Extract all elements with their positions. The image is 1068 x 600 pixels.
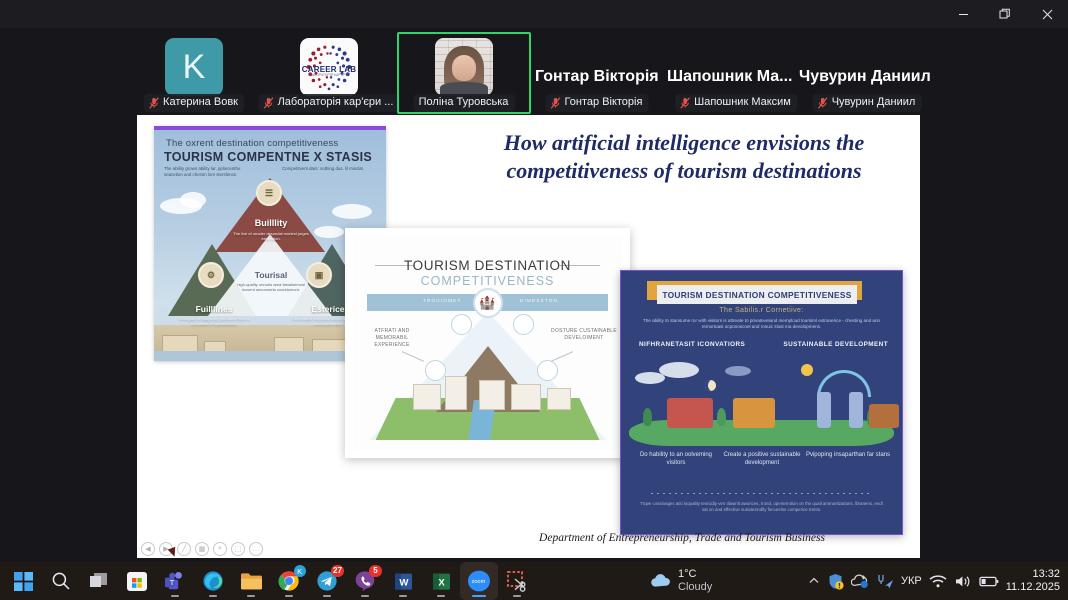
windows-security-icon[interactable] bbox=[827, 573, 844, 590]
previous-slide-button[interactable]: ◀ bbox=[141, 542, 155, 556]
cloud-icon bbox=[180, 192, 206, 208]
microphone-muted-icon bbox=[818, 97, 828, 109]
infographic-b-label-left: ATFRATI AND MEMORABIL EXPERIENCE bbox=[359, 328, 425, 349]
clock[interactable]: 13:32 11.12.2025 bbox=[1006, 568, 1064, 594]
clock-date: 11.12.2025 bbox=[1006, 581, 1060, 594]
infographic-c-column-right: SUSTAINABLE DEVELOPMENT bbox=[783, 341, 888, 348]
infographic-a-node-desc-1: The live of onoder desondal monind jorge… bbox=[232, 231, 310, 241]
cloud-icon bbox=[332, 204, 372, 219]
tree-icon bbox=[717, 408, 726, 426]
more-options-button[interactable]: … bbox=[249, 542, 263, 556]
infographic-b-band-label-left: TROUIOMEY bbox=[423, 298, 462, 303]
zoom-in-button[interactable]: ⌕ bbox=[213, 542, 227, 556]
participant-display-name: Чувурин Даниил bbox=[799, 68, 931, 86]
microsoft-word-icon[interactable]: W bbox=[384, 562, 422, 600]
participant-name-chip: Лабораторія кар'єри ... bbox=[259, 94, 400, 112]
participant-display-name: Шапошник Ма... bbox=[667, 68, 792, 86]
sun-icon bbox=[801, 364, 813, 376]
infographic-c-caption-2: Create a positive sustainable developmen… bbox=[719, 451, 805, 467]
infographic-c-column-left: NIFHRANETASIT ICONVATIORS bbox=[639, 341, 745, 348]
restore-button[interactable] bbox=[984, 0, 1026, 28]
microsoft-excel-icon[interactable]: X bbox=[422, 562, 460, 600]
infographic-b-label-right: DOSTURE CUSTAINABLE DEVELOIMENT bbox=[550, 328, 618, 342]
minimize-button[interactable] bbox=[942, 0, 984, 28]
infographic-b-title-line1: TOURISM DESTINATION bbox=[353, 258, 622, 273]
infographic-a-heading: TOURISM COMPENTNE X STASIS bbox=[164, 150, 380, 164]
moon-icon bbox=[705, 380, 716, 391]
cloud-icon bbox=[659, 362, 699, 378]
presentation-controls-toolbar[interactable]: ◀ ▶ ╱ ▦ ⌕ ⬚ … bbox=[141, 542, 263, 556]
close-button[interactable] bbox=[1026, 0, 1068, 28]
pen-annotate-button[interactable]: ╱ bbox=[177, 542, 191, 556]
infographic-c-banner: TOURISM DESTINATION COMPETITIVENESS bbox=[657, 285, 857, 304]
microphone-muted-icon bbox=[149, 97, 159, 109]
infographic-a-paragraph-right: Competitvent dars: sothing dus. lil misc… bbox=[282, 166, 374, 172]
language-indicator[interactable]: УКР bbox=[901, 575, 922, 587]
building bbox=[479, 380, 505, 410]
present-options-button[interactable]: ⬚ bbox=[231, 542, 245, 556]
node-icon bbox=[425, 360, 446, 381]
infographic-a-node-desc-2: high-quality onroots area tianalsemval i… bbox=[234, 282, 308, 292]
pen-menu-icon[interactable] bbox=[876, 573, 894, 589]
app-open-indicator bbox=[171, 595, 179, 598]
purple-accent-bar bbox=[154, 126, 386, 130]
dotted-divider bbox=[651, 493, 872, 494]
pyramid-right-badge-icon: ▣ bbox=[306, 262, 332, 288]
participant-name: Лабораторія кар'єри ... bbox=[278, 96, 394, 109]
battery-icon[interactable] bbox=[979, 575, 999, 588]
file-explorer-icon[interactable] bbox=[232, 562, 270, 600]
app-open-indicator bbox=[361, 595, 369, 598]
infographic-c-caption-3: Pvipoping insaparthan far stans bbox=[805, 451, 891, 459]
participant-tile-katerina[interactable]: K Катерина Вовк bbox=[146, 32, 242, 114]
infographic-white-pyramid[interactable]: TOURISM DESTINATION COMPETITIVENESS TROU… bbox=[345, 228, 630, 458]
participant-name-chip: Поліна Туровська bbox=[414, 94, 515, 112]
snipping-tool-icon[interactable] bbox=[498, 562, 536, 600]
search-button[interactable] bbox=[42, 562, 80, 600]
avatar bbox=[435, 38, 493, 96]
infographic-a-subheading: The oxrent destination competitiveness bbox=[166, 138, 376, 149]
participant-name: Катерина Вовк bbox=[163, 96, 238, 109]
microsoft-edge-icon[interactable] bbox=[194, 562, 232, 600]
slide-footer: Department of Entrepreneurship, Trade an… bbox=[457, 532, 907, 544]
house-red-icon bbox=[667, 398, 713, 428]
participant-tile-shaposhnyk[interactable]: Шапошник Ма... Шапошник Максим bbox=[665, 32, 799, 114]
avatar: K bbox=[165, 38, 223, 96]
cloud-icon bbox=[725, 366, 751, 376]
pyramid-top-badge-icon: ☰ bbox=[256, 180, 282, 206]
pyramid-left-badge-icon: ⚙ bbox=[198, 262, 224, 288]
chrome-profile-badge: K bbox=[294, 565, 306, 577]
svg-text:W: W bbox=[399, 577, 409, 588]
participant-display-name: Гонтар Вікторія bbox=[535, 68, 659, 86]
start-button[interactable] bbox=[4, 562, 42, 600]
app-open-indicator bbox=[399, 595, 407, 598]
microphone-muted-icon bbox=[551, 97, 561, 109]
infographic-a-paragraph-left: The ability growo ability lar, pploicent… bbox=[164, 166, 256, 178]
weather-temperature: 1°C bbox=[678, 568, 712, 581]
infographic-a-node-desc-3: Crfengate for'diaponce perfoners ffers t… bbox=[176, 316, 252, 326]
participant-name-chip: Чувурин Даниил bbox=[813, 94, 922, 112]
participant-video-feed bbox=[435, 38, 493, 96]
app-open-indicator bbox=[323, 595, 331, 598]
infographic-a-node-label-1: Builllity bbox=[230, 218, 312, 228]
telegram-unread-badge: 27 bbox=[331, 565, 344, 577]
infographic-b-canvas: TOURISM DESTINATION COMPETITIVENESS TROU… bbox=[353, 236, 622, 450]
node-icon bbox=[537, 360, 558, 381]
avatar: CAREER LAB ЛАБОРАТОРІЯ КАР'ЄРИ bbox=[300, 38, 358, 96]
telegram-icon[interactable]: 27 bbox=[308, 562, 346, 600]
google-chrome-icon[interactable]: K bbox=[270, 562, 308, 600]
show-hidden-icons-button[interactable] bbox=[808, 575, 820, 587]
svg-text:zoom: zoom bbox=[472, 579, 486, 585]
career-lab-subtitle: ЛАБОРАТОРІЯ КАР'ЄРИ bbox=[300, 73, 358, 77]
participant-tile-polina-active-speaker[interactable]: Поліна Туровська bbox=[397, 32, 531, 114]
app-open-indicator bbox=[513, 595, 521, 598]
infographic-c-caption-1: Do hability to an oolveming visitors bbox=[633, 451, 719, 467]
illustration-scene bbox=[621, 356, 902, 446]
app-open-indicator bbox=[437, 595, 445, 598]
taskbar-app-buttons: T bbox=[4, 562, 536, 600]
volume-icon[interactable] bbox=[954, 574, 972, 589]
node-icon bbox=[513, 314, 534, 335]
participant-name-chip: Гонтар Вікторія bbox=[546, 94, 649, 112]
castle-medallion-icon: 🏰 bbox=[473, 288, 503, 318]
onedrive-sync-icon[interactable] bbox=[851, 573, 869, 589]
participant-tile-chuvurin[interactable]: Чувурин Даниил Чувурин Даниил bbox=[799, 32, 933, 114]
tree-icon bbox=[643, 408, 652, 426]
zoom-meeting-window: K Катерина Вовк bbox=[0, 0, 1068, 600]
participant-name: Гонтар Вікторія bbox=[565, 96, 643, 109]
node-icon bbox=[451, 314, 472, 335]
tower-left-icon bbox=[817, 392, 831, 428]
microphone-muted-icon bbox=[264, 97, 274, 109]
viber-unread-badge: 5 bbox=[369, 565, 382, 577]
participant-name: Поліна Туровська bbox=[419, 96, 509, 109]
infographic-navy-competitiveness[interactable]: TOURISM DESTINATION COMPETITIVENESS The … bbox=[620, 270, 903, 535]
participant-name: Чувурин Даниил bbox=[832, 96, 916, 109]
building bbox=[547, 388, 571, 410]
infographic-b-title-line2: COMPETITIVENESS bbox=[353, 274, 622, 288]
infographic-c-body: The ability to stansume ror with visitor… bbox=[635, 318, 888, 331]
app-open-indicator bbox=[285, 595, 293, 598]
svg-text:K: K bbox=[297, 567, 302, 576]
cloud-icon bbox=[650, 573, 672, 589]
system-tray: УКР bbox=[808, 562, 1064, 600]
infographic-c-subtitle: The Sabilis.r Cornetiive: bbox=[621, 307, 902, 314]
building bbox=[511, 384, 541, 410]
infographic-a-node-label-3: Fuilllines bbox=[174, 304, 254, 314]
windows-taskbar: T bbox=[0, 562, 1068, 600]
building bbox=[445, 376, 467, 410]
participant-filmstrip: K Катерина Вовк bbox=[0, 32, 1068, 114]
clock-time: 13:32 bbox=[1006, 568, 1060, 581]
participant-name-chip: Шапошник Максим bbox=[675, 94, 797, 112]
career-lab-logo-icon: CAREER LAB ЛАБОРАТОРІЯ КАР'ЄРИ bbox=[300, 38, 358, 96]
microsoft-teams-icon[interactable]: T bbox=[156, 562, 194, 600]
microphone-muted-icon bbox=[680, 97, 690, 109]
wifi-icon[interactable] bbox=[929, 574, 947, 589]
weather-widget[interactable]: 1°C Cloudy bbox=[650, 562, 712, 600]
svg-text:X: X bbox=[438, 577, 445, 588]
app-open-indicator bbox=[472, 595, 486, 598]
infographic-a-node-label-2: Tourisal bbox=[230, 270, 312, 280]
building bbox=[413, 384, 441, 410]
participant-tile-gontar[interactable]: Гонтар Вікторія Гонтар Вікторія bbox=[531, 32, 665, 114]
infographic-b-band-label-right: DIMESSTON bbox=[520, 298, 558, 303]
participant-tile-career-lab[interactable]: CAREER LAB ЛАБОРАТОРІЯ КАР'ЄРИ Лаборатор… bbox=[262, 32, 396, 114]
app-open-indicator bbox=[247, 595, 255, 598]
tower-right-icon bbox=[849, 392, 863, 428]
task-view-button[interactable] bbox=[80, 562, 118, 600]
avatar-initial: K bbox=[165, 38, 223, 96]
microsoft-store-icon[interactable] bbox=[118, 562, 156, 600]
slide-thumbnails-button[interactable]: ▦ bbox=[195, 542, 209, 556]
participant-name-chip: Катерина Вовк bbox=[144, 94, 244, 112]
shared-screen-slide[interactable]: How artificial intelligence envisions th… bbox=[137, 115, 920, 558]
house-orange-icon bbox=[733, 398, 775, 428]
slide-title: How artificial intelligence envisions th… bbox=[459, 129, 909, 185]
cabin-icon bbox=[869, 404, 899, 428]
app-open-indicator bbox=[209, 595, 217, 598]
viber-icon[interactable]: 5 bbox=[346, 562, 384, 600]
infographic-c-footer: Trqve cossinages atsi niquality tenicidi… bbox=[639, 501, 884, 513]
svg-text:T: T bbox=[170, 578, 175, 587]
zoom-icon[interactable]: zoom bbox=[460, 562, 498, 600]
weather-condition: Cloudy bbox=[678, 581, 712, 594]
participant-name: Шапошник Максим bbox=[694, 96, 791, 109]
window-titlebar bbox=[0, 0, 1068, 28]
